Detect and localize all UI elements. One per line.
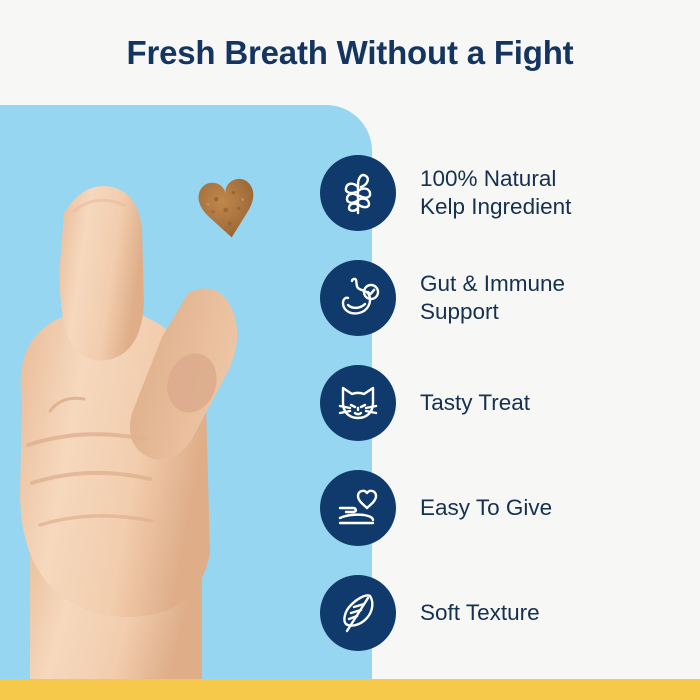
benefit-row-gut: Gut & Immune Support [320,245,690,350]
benefit-row-soft: Soft Texture [320,560,690,665]
benefit-label-easy-line1: Easy To Give [420,495,552,520]
benefit-label-easy: Easy To Give [420,494,552,522]
stomach-check-icon [320,260,396,336]
benefit-label-kelp-line2: Kelp Ingredient [420,194,571,219]
product-photo-panel [0,105,372,679]
benefit-row-tasty: Tasty Treat [320,350,690,455]
benefit-row-easy: Easy To Give [320,455,690,560]
benefit-label-soft-line1: Soft Texture [420,600,540,625]
benefit-label-tasty-line1: Tasty Treat [420,390,530,415]
benefit-row-kelp: 100% Natural Kelp Ingredient [320,140,690,245]
bottom-accent-bar [0,679,700,700]
kelp-leaf-icon [320,155,396,231]
benefit-label-soft: Soft Texture [420,599,540,627]
benefit-label-gut-line1: Gut & Immune [420,271,565,296]
infographic-root: Fresh Breath Without a Fight [0,0,700,700]
benefit-label-tasty: Tasty Treat [420,389,530,417]
benefit-label-gut: Gut & Immune Support [420,270,565,326]
cat-face-icon [320,365,396,441]
benefits-list: 100% Natural Kelp Ingredient Gut & Immun… [320,140,690,665]
benefit-label-kelp: 100% Natural Kelp Ingredient [420,165,571,221]
hand-holding-treat-illustration [0,153,322,679]
benefit-label-kelp-line1: 100% Natural [420,166,556,191]
feather-icon [320,575,396,651]
hand-photo [0,105,372,679]
hand-heart-icon [320,470,396,546]
benefit-label-gut-line2: Support [420,299,499,324]
page-title: Fresh Breath Without a Fight [127,34,574,72]
header: Fresh Breath Without a Fight [0,0,700,105]
